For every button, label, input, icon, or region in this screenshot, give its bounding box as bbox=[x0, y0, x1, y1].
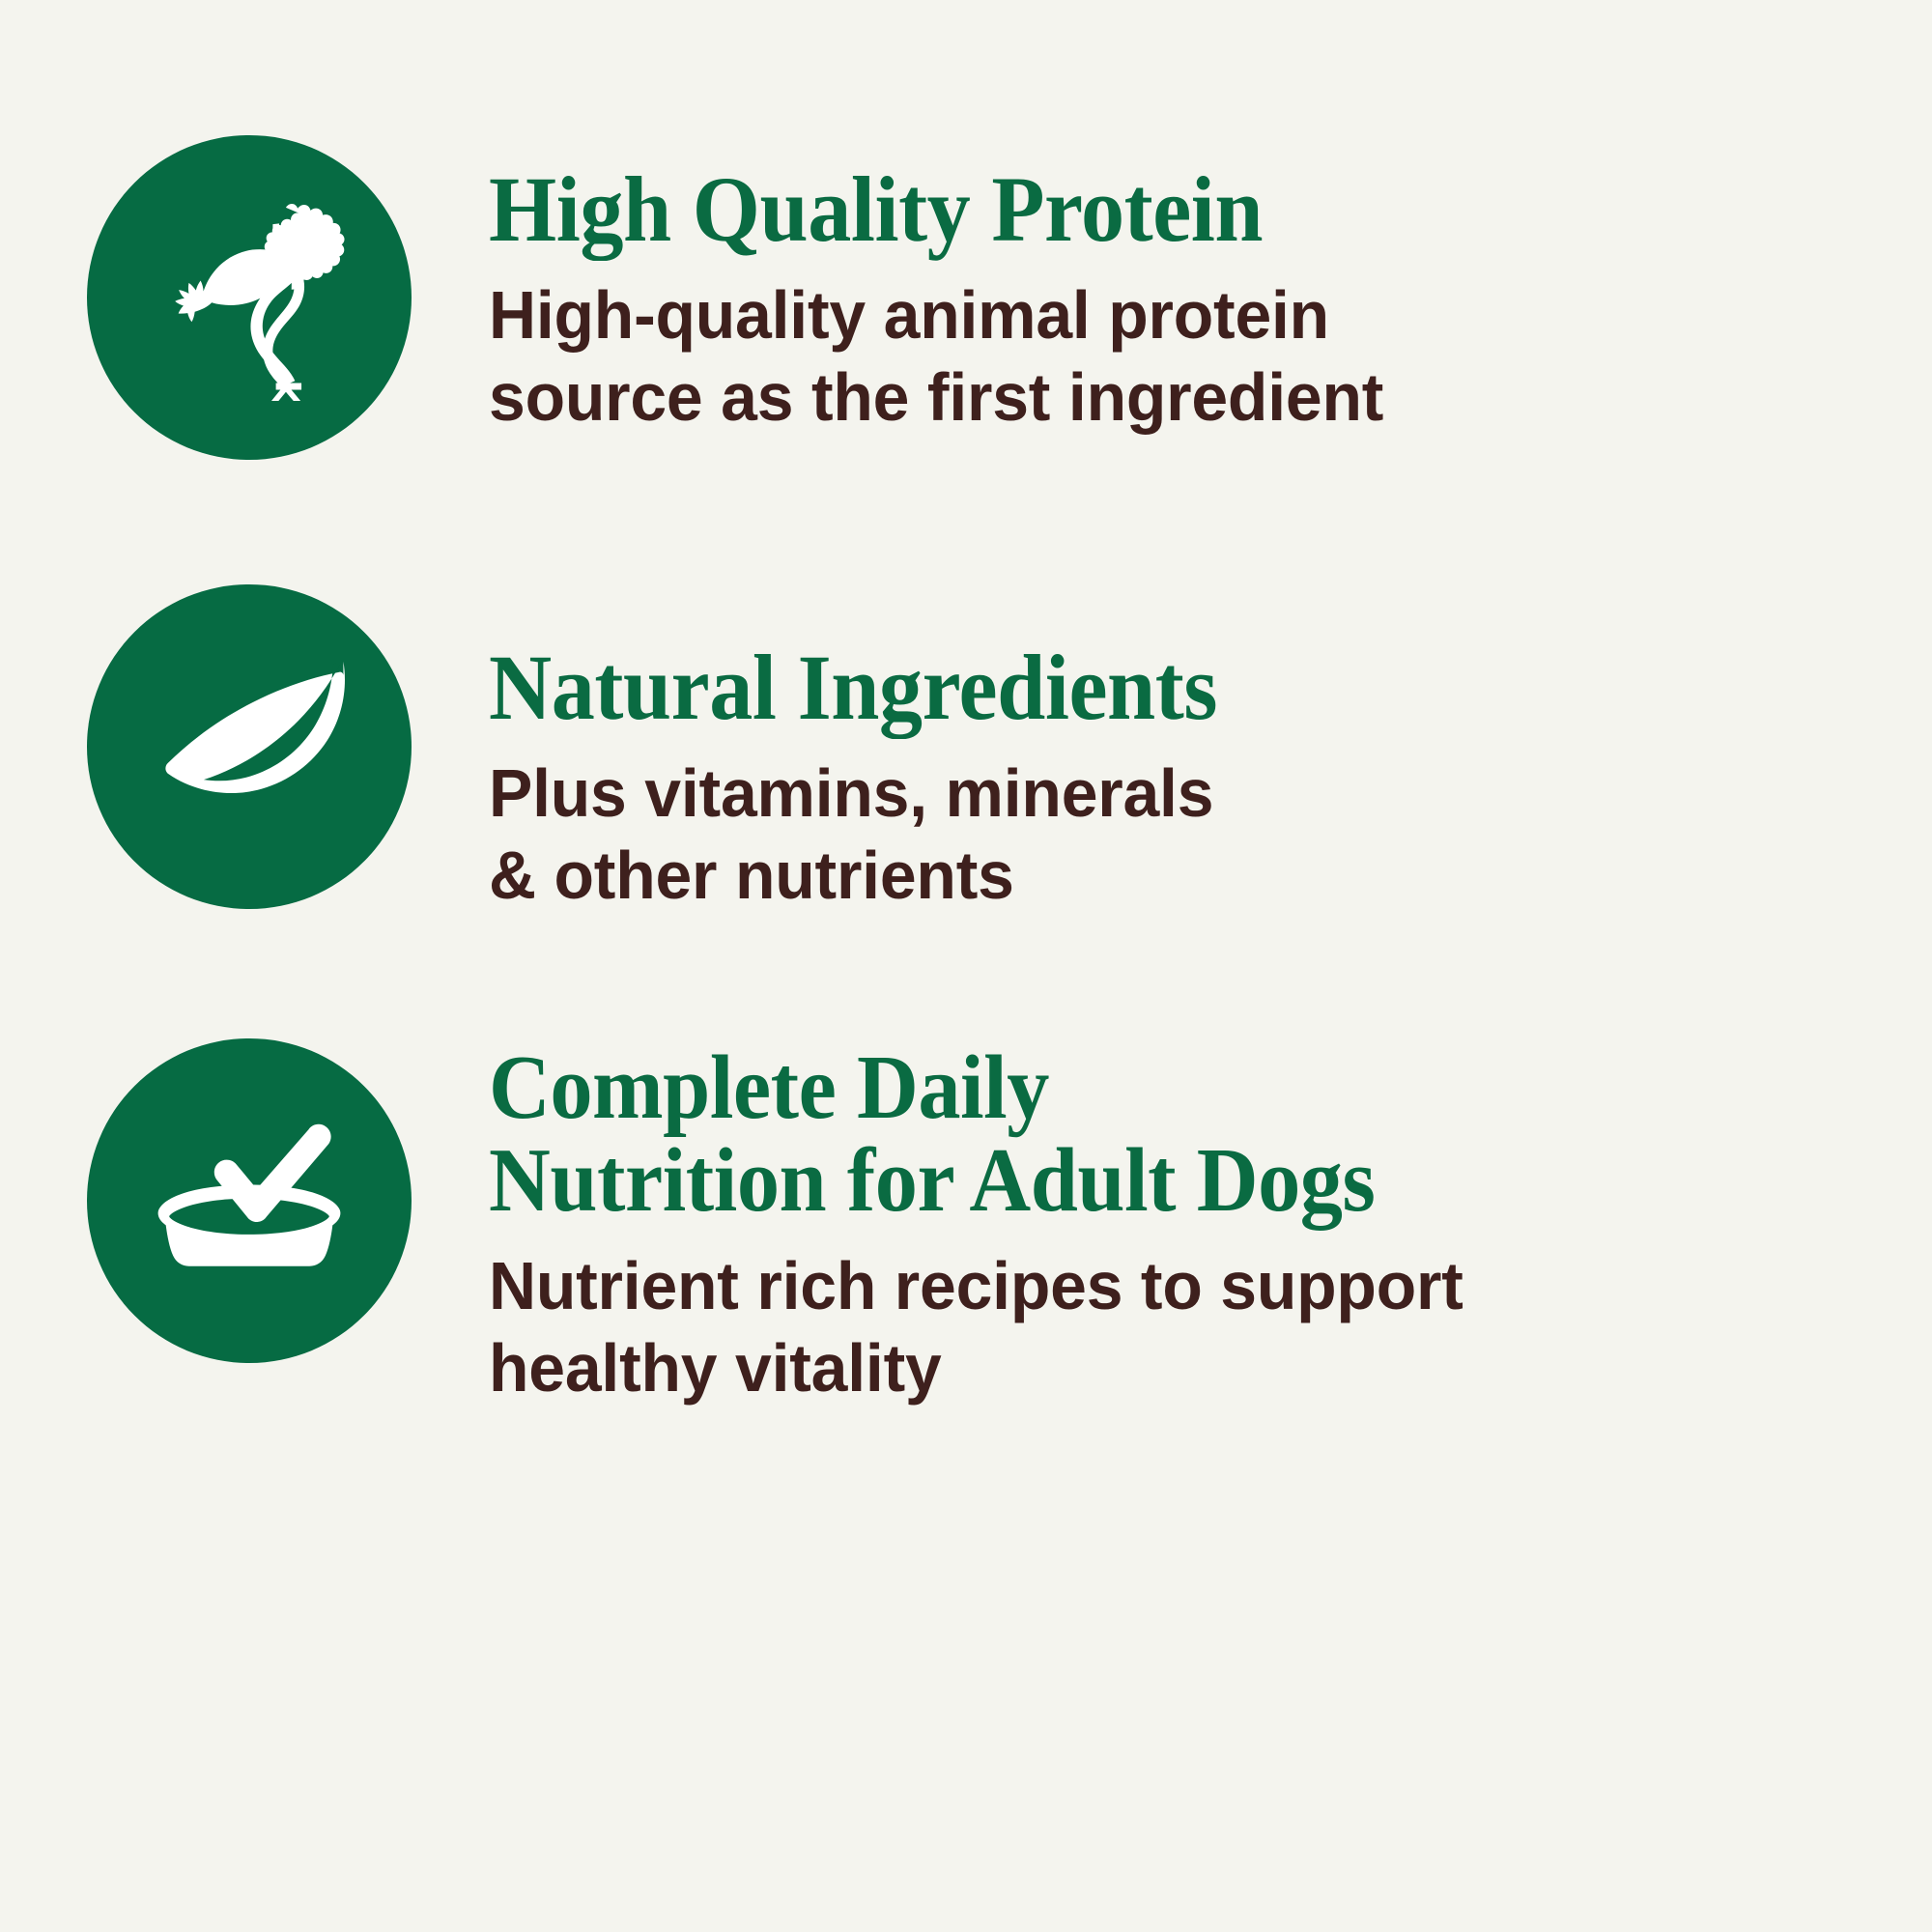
leaf-icon-badge bbox=[87, 584, 412, 909]
feature-body: High-quality animal protein source as th… bbox=[489, 274, 1889, 440]
feature-title: High Quality Protein bbox=[489, 162, 1845, 257]
feature-body: Nutrient rich recipes to support healthy… bbox=[489, 1245, 1889, 1410]
rooster-icon-badge bbox=[87, 135, 412, 460]
feature-item-high-quality-protein: High Quality Protein High-quality animal… bbox=[0, 135, 1932, 460]
feature-title: Natural Ingredients bbox=[489, 640, 1845, 735]
feature-text-block: Complete Daily Nutrition for Adult Dogs … bbox=[489, 1038, 1932, 1410]
rooster-icon bbox=[138, 186, 360, 409]
feature-text-block: Natural Ingredients Plus vitamins, miner… bbox=[489, 584, 1932, 918]
feature-item-complete-daily-nutrition: Complete Daily Nutrition for Adult Dogs … bbox=[0, 1038, 1932, 1410]
feature-body: Plus vitamins, minerals & other nutrient… bbox=[489, 753, 1889, 918]
benefits-infographic: High Quality Protein High-quality animal… bbox=[0, 0, 1932, 1932]
feature-text-block: High Quality Protein High-quality animal… bbox=[489, 135, 1932, 440]
feature-item-natural-ingredients: Natural Ingredients Plus vitamins, miner… bbox=[0, 584, 1932, 918]
leaf-icon bbox=[137, 635, 361, 859]
food-bowl-check-icon-badge bbox=[87, 1038, 412, 1363]
feature-list: High Quality Protein High-quality animal… bbox=[0, 0, 1932, 1932]
feature-title: Complete Daily Nutrition for Adult Dogs bbox=[489, 1042, 1845, 1228]
food-bowl-check-icon bbox=[135, 1087, 363, 1315]
